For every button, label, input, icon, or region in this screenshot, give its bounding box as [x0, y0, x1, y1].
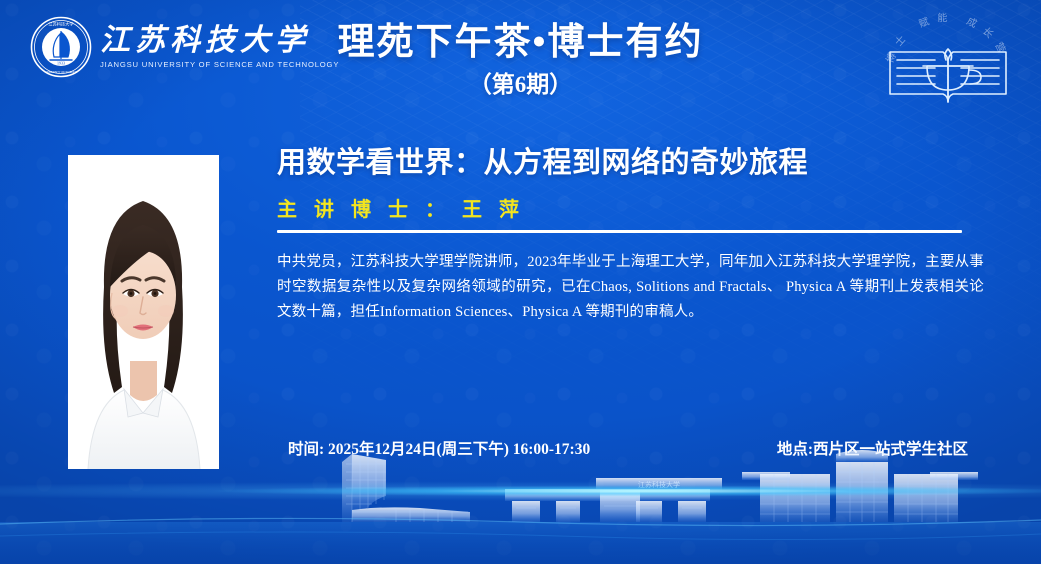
poster-canvas: 1933 江苏科技大学 UNIVERSITY OF SCIENCE 江苏科技大学…	[0, 0, 1041, 564]
talk-content: 用数学看世界：从方程到网络的奇妙旅程 主 讲 博 士 ： 王 萍 中共党员，江苏…	[277, 146, 967, 325]
svg-text:UNIVERSITY OF SCIENCE: UNIVERSITY OF SCIENCE	[45, 70, 77, 74]
svg-text:1933: 1933	[57, 61, 65, 66]
speaker-bio: 中共党员，江苏科技大学理学院讲师，2023年毕业于上海理工大学，同年加入江苏科技…	[277, 250, 984, 325]
university-crest-sailboat-icon: 1933 江苏科技大学 UNIVERSITY OF SCIENCE	[30, 16, 92, 78]
university-name-cn: 江苏科技大学	[100, 26, 335, 56]
university-name-block: 江苏科技大学 JIANGSU UNIVERSITY OF SCIENCE AND…	[100, 26, 335, 69]
university-name-en: JIANGSU UNIVERSITY OF SCIENCE AND TECHNO…	[100, 61, 339, 69]
speaker-name-label: 主 讲 博 士 ： 王 萍	[277, 193, 967, 222]
svg-text:江苏科技大学: 江苏科技大学	[48, 21, 73, 28]
gate-sign-text: 江苏科技大学	[638, 480, 680, 489]
campus-skyline-silhouette: 江苏科技大学	[0, 444, 1041, 564]
open-book-with-teacup-icon: 博士 赋能 成长营	[873, 4, 1023, 114]
divider	[277, 230, 962, 233]
speaker-portrait-photo	[68, 155, 219, 469]
university-logo: 1933 江苏科技大学 UNIVERSITY OF SCIENCE 江苏科技大学…	[30, 16, 335, 78]
page-title: 用数学看世界：从方程到网络的奇妙旅程	[277, 146, 967, 181]
